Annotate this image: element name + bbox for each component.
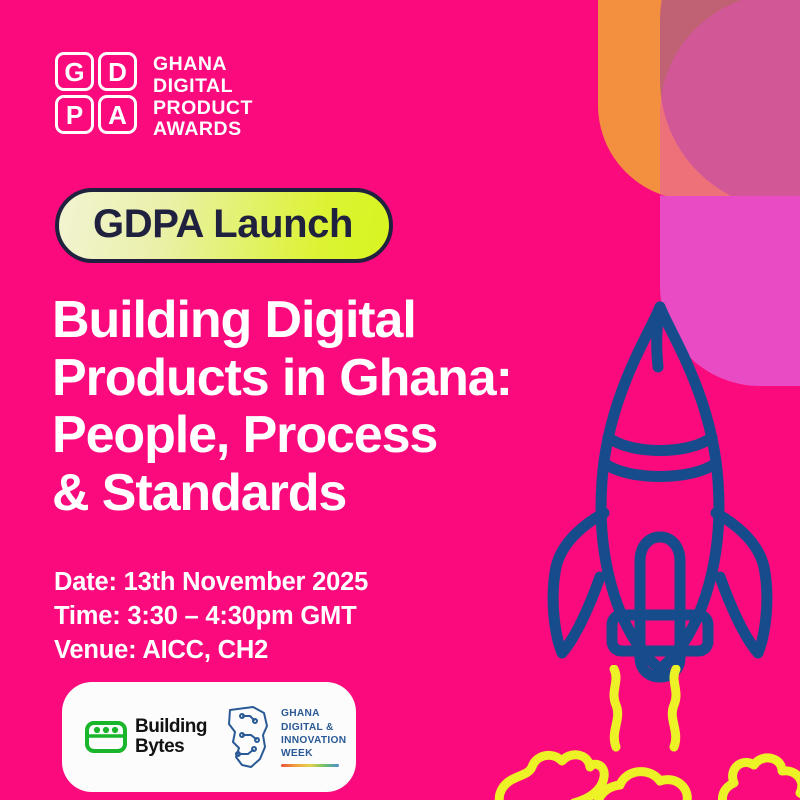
rocket-flames-icon [470,665,800,800]
gdpa-logo-word-ghana: GHANA [153,54,253,76]
headline-line-2: Products in Ghana: [52,350,512,408]
launch-badge: GDPA Launch [55,188,393,263]
page-title: Building Digital Products in Ghana: Peop… [52,292,512,523]
rocket-icon [500,285,800,705]
gdiw-color-bar [281,764,339,767]
building-bytes-logo: Building Bytes [84,717,207,756]
event-poster: G D P A GHANA DIGITAL PRODUCT AWARDS GDP… [0,0,800,800]
headline-line-4: & Standards [52,465,512,523]
gdpa-logo-word-product: PRODUCT [153,98,253,120]
gdpa-logo-letter-a: A [98,95,137,134]
building-bytes-line-1: Building [135,717,207,737]
event-venue: Venue: AICC, CH2 [54,634,368,668]
gdpa-logo: G D P A GHANA DIGITAL PRODUCT AWARDS [55,52,253,141]
browser-window-icon [84,720,128,754]
headline-line-1: Building Digital [52,292,512,350]
gdiw-line-4: WEEK [281,747,346,760]
gdpa-logo-word-awards: AWARDS [153,119,253,141]
event-time: Time: 3:30 – 4:30pm GMT [54,600,368,634]
headline-line-3: People, Process [52,407,512,465]
building-bytes-line-2: Bytes [135,737,207,757]
event-date: Date: 13th November 2025 [54,566,368,600]
gdpa-logo-letter-grid: G D P A [55,52,137,134]
gdiw-line-2: DIGITAL & [281,721,346,734]
gdpa-logo-letter-p: P [55,95,94,134]
building-bytes-wordmark: Building Bytes [135,717,207,756]
gdpa-logo-letter-d: D [98,52,137,91]
gdiw-wordmark: GHANA DIGITAL & INNOVATION WEEK [281,707,346,767]
event-details: Date: 13th November 2025 Time: 3:30 – 4:… [54,566,368,668]
gdpa-logo-word-digital: DIGITAL [153,76,253,98]
sponsor-card: Building Bytes GH [62,682,356,792]
gdiw-line-1: GHANA [281,707,346,720]
gdpa-logo-letter-g: G [55,52,94,91]
gdiw-logo: GHANA DIGITAL & INNOVATION WEEK [223,702,346,772]
gdpa-logo-wordmark: GHANA DIGITAL PRODUCT AWARDS [153,52,253,141]
ghana-map-icon [223,702,275,772]
gdiw-line-3: INNOVATION [281,734,346,747]
